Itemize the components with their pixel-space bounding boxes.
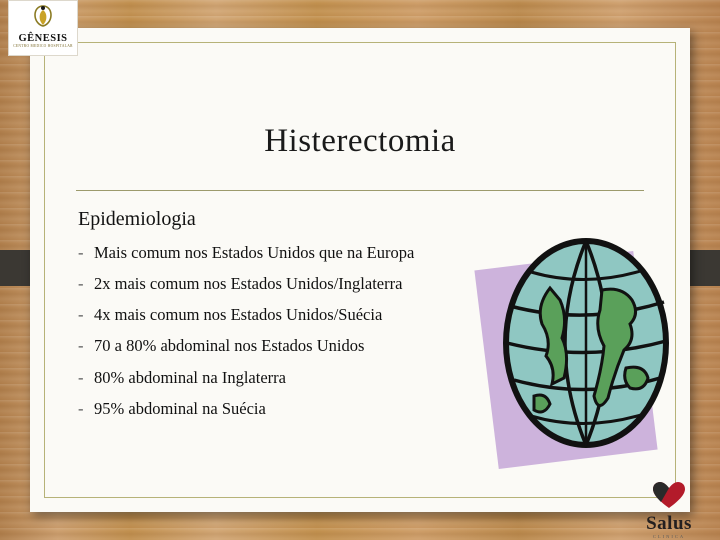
page-title: Histerectomia (30, 123, 690, 160)
logo-genesis: GÊNESIS CENTRO MEDICO HOSPITALAR (8, 0, 78, 56)
list-item: - 70 a 80% abdominal nos Estados Unidos (78, 337, 478, 355)
bullet-marker: - (78, 306, 94, 324)
bullet-marker: - (78, 369, 94, 387)
bullet-marker: - (78, 337, 94, 355)
globe-icon (498, 228, 678, 458)
list-item: - 95% abdominal na Suécia (78, 400, 478, 418)
genesis-logo-name: GÊNESIS (9, 33, 77, 44)
bullet-marker: - (78, 400, 94, 418)
globe-illustration (470, 218, 680, 498)
logo-salus: Salus CLINICA (626, 480, 712, 536)
salus-logo-tagline: CLINICA (626, 533, 712, 540)
list-item-label: Mais comum nos Estados Unidos que na Eur… (94, 244, 478, 262)
bullet-list: - Mais comum nos Estados Unidos que na E… (78, 244, 478, 431)
list-item-label: 4x mais comum nos Estados Unidos/Suécia (94, 306, 478, 324)
list-item: - Mais comum nos Estados Unidos que na E… (78, 244, 478, 262)
title-divider (76, 190, 644, 191)
list-item-label: 70 a 80% abdominal nos Estados Unidos (94, 337, 478, 355)
genesis-mark-icon (30, 4, 56, 28)
salus-mark-icon (650, 480, 688, 510)
bullet-marker: - (78, 275, 94, 293)
salus-logo-name: Salus (626, 515, 712, 533)
genesis-logo-tagline: CENTRO MEDICO HOSPITALAR (9, 44, 77, 49)
list-item-label: 80% abdominal na Inglaterra (94, 369, 478, 387)
list-item-label: 2x mais comum nos Estados Unidos/Inglate… (94, 275, 478, 293)
list-item: - 80% abdominal na Inglaterra (78, 369, 478, 387)
bullet-marker: - (78, 244, 94, 262)
section-subtitle: Epidemiologia (78, 208, 196, 231)
slide-canvas: Histerectomia Epidemiologia - Mais comum… (0, 0, 720, 540)
slide-board: Histerectomia Epidemiologia - Mais comum… (30, 28, 690, 512)
list-item-label: 95% abdominal na Suécia (94, 400, 478, 418)
list-item: - 4x mais comum nos Estados Unidos/Suéci… (78, 306, 478, 324)
list-item: - 2x mais comum nos Estados Unidos/Ingla… (78, 275, 478, 293)
